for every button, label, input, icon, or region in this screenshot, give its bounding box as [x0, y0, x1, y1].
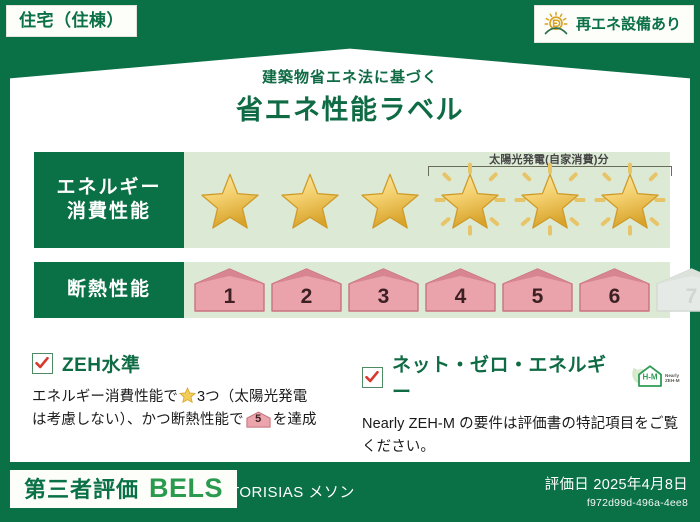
- netzero-checkbox: [362, 367, 383, 388]
- insulation-level-value: 1: [192, 285, 267, 309]
- energy-row-label: エネルギー 消費性能: [34, 152, 184, 248]
- insulation-row-body: 1234567: [184, 262, 670, 318]
- footer-meta: 評価日 2025年4月8日 f972d99d-496a-4ee8: [545, 473, 688, 509]
- insulation-level-active: 1: [192, 267, 267, 313]
- third-party-eval-label: 第三者評価: [24, 479, 139, 501]
- insulation-level-value: 6: [577, 285, 652, 309]
- nearly-zeh-m-logo: H-M Nearly ZEH-M: [630, 362, 682, 392]
- energy-label-line2: 消費性能: [67, 200, 151, 224]
- insulation-level-value: 7: [654, 285, 700, 309]
- renewable-energy-badge: 再エネ設備あり: [534, 5, 694, 43]
- insulation-row-label: 断熱性能: [34, 262, 184, 318]
- building-type-label: 住宅（住棟）: [19, 11, 124, 30]
- solar-sun-icon: [543, 11, 569, 37]
- star-solar: [430, 160, 510, 240]
- energy-performance-label: 住宅（住棟） 再エネ設備あり 建築物省エネ法に基づく 省エネ性能: [0, 0, 700, 522]
- insulation-level-active: 5: [500, 267, 575, 313]
- insulation-level-active: 4: [423, 267, 498, 313]
- zeh-desc-part3: を達成: [273, 412, 317, 428]
- label-main-title: 省エネ性能ラベル: [0, 88, 700, 127]
- netzero-title: ネット・ゼロ・エネルギー: [392, 350, 619, 404]
- insulation-level-active: 2: [269, 267, 344, 313]
- star-base: [270, 160, 350, 240]
- bels-wordmark: BELS: [149, 475, 223, 502]
- zeh-criteria-block: ZEH水準 エネルギー消費性能で3つ（太陽光発電 は考慮しない）、かつ断熱性能で…: [32, 350, 352, 433]
- insulation-level-value: 4: [423, 285, 498, 309]
- svg-text:ZEH-M: ZEH-M: [665, 378, 680, 383]
- document-id: f972d99d-496a-4ee8: [545, 497, 688, 509]
- star-solar: [510, 160, 590, 240]
- energy-row-body: 太陽光発電(自家消費)分: [184, 152, 670, 248]
- evaluation-date: 評価日 2025年4月8日: [545, 473, 688, 494]
- svg-text:H-M: H-M: [642, 373, 657, 382]
- zeh-desc-part1: エネルギー消費性能で: [32, 389, 178, 405]
- insulation-label: 断熱性能: [67, 278, 151, 302]
- zeh-heading: ZEH水準: [32, 350, 352, 377]
- insulation-level-value: 5: [500, 285, 575, 309]
- zeh-desc-stars: 3つ（太陽光発電: [197, 389, 307, 405]
- renewable-badge-label: 再エネ設備あり: [576, 17, 681, 32]
- star-solar: [590, 160, 670, 240]
- energy-star-rating: [184, 152, 670, 248]
- star-base: [350, 160, 430, 240]
- zeh-title: ZEH水準: [62, 350, 141, 377]
- insulation-level-inactive: 7: [654, 267, 700, 313]
- netzero-description: Nearly ZEH-M の要件は評価書の特記項目をご覧ください。: [362, 413, 682, 460]
- energy-performance-row: エネルギー 消費性能 太陽光発電(自家消費)分: [34, 152, 670, 248]
- footer-band: 第三者評価 BELS TORISIAS メソン 評価日 2025年4月8日 f9…: [0, 462, 700, 522]
- insulation-level-active: 6: [577, 267, 652, 313]
- insulation-level-value: 2: [269, 285, 344, 309]
- inline-star-icon: [179, 387, 196, 404]
- energy-label-line1: エネルギー: [56, 176, 161, 200]
- insulation-level-active: 3: [346, 267, 421, 313]
- netzero-heading: ネット・ゼロ・エネルギー H-M Nearly ZEH-M: [362, 350, 682, 404]
- star-base: [190, 160, 270, 240]
- inline-house-icon: 5: [246, 411, 271, 428]
- insulation-level-scale: 1234567: [192, 262, 700, 318]
- label-subtitle: 建築物省エネ法に基づく: [0, 66, 700, 87]
- insulation-level-value: 3: [346, 285, 421, 309]
- property-name: TORISIAS メソン: [230, 481, 355, 502]
- building-type-chip: 住宅（住棟）: [6, 5, 137, 37]
- inline-house-value: 5: [246, 411, 271, 429]
- insulation-performance-row: 断熱性能 1234567: [34, 262, 670, 318]
- zeh-description: エネルギー消費性能で3つ（太陽光発電 は考慮しない）、かつ断熱性能で5を達成: [32, 386, 352, 433]
- bels-certification-chip: 第三者評価 BELS: [10, 470, 237, 508]
- zeh-desc-part2: は考慮しない）、かつ断熱性能で: [32, 412, 244, 428]
- netzero-criteria-block: ネット・ゼロ・エネルギー H-M Nearly ZEH-M Nearly ZEH…: [362, 350, 682, 460]
- zeh-checkbox: [32, 353, 53, 374]
